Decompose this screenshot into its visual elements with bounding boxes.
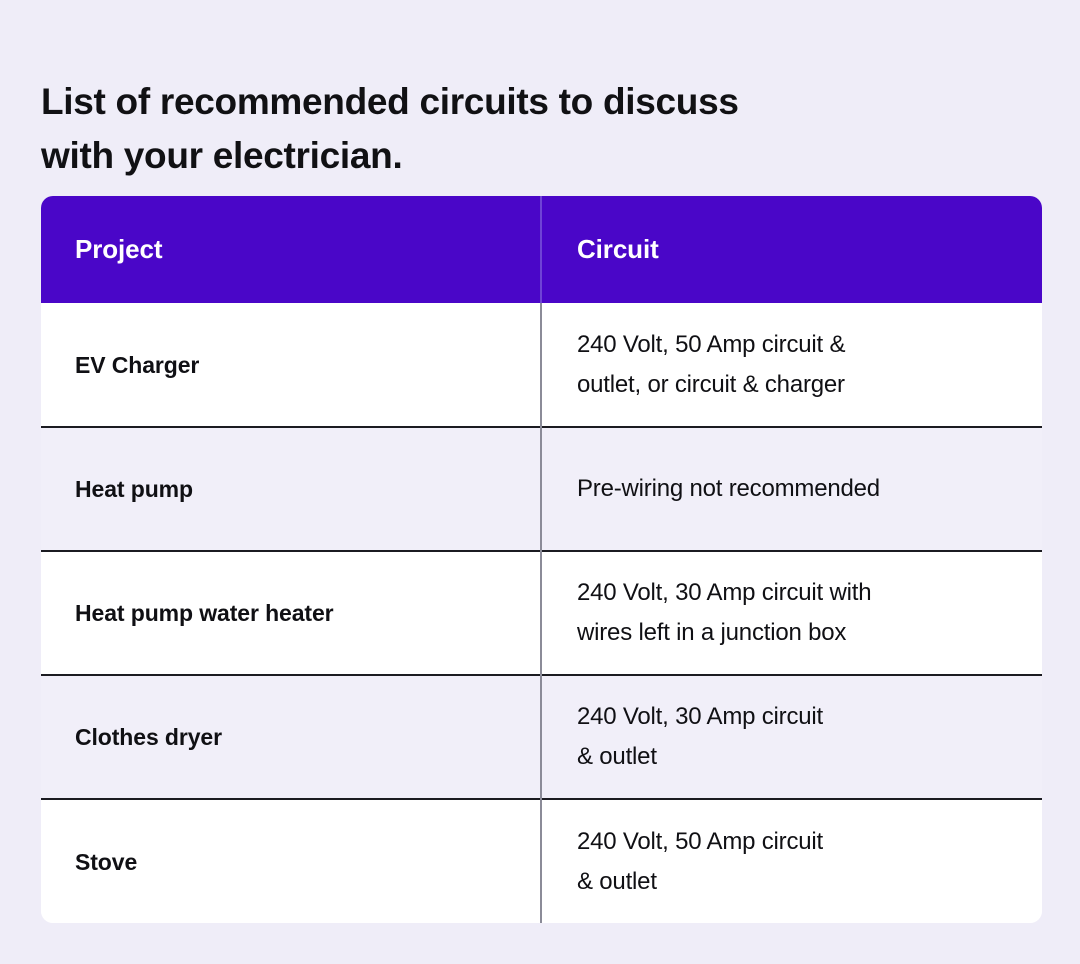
- table-body: EV Charger 240 Volt, 50 Amp circuit & ou…: [41, 303, 1042, 923]
- cell-project: EV Charger: [41, 303, 541, 427]
- cell-project: Clothes dryer: [41, 675, 541, 799]
- table-header: Project Circuit: [41, 196, 1042, 303]
- cell-project: Heat pump: [41, 427, 541, 551]
- cell-circuit: 240 Volt, 30 Amp circuit & outlet: [541, 675, 1042, 799]
- table: Project Circuit EV Charger 240 Volt, 50 …: [41, 196, 1042, 923]
- table-row: Heat pump Pre-wiring not recommended: [41, 427, 1042, 551]
- table-row: EV Charger 240 Volt, 50 Amp circuit & ou…: [41, 303, 1042, 427]
- column-header-project: Project: [41, 196, 541, 303]
- cell-circuit: Pre-wiring not recommended: [541, 427, 1042, 551]
- cell-circuit: 240 Volt, 50 Amp circuit & outlet, or ci…: [541, 303, 1042, 427]
- recommended-circuits-table: Project Circuit EV Charger 240 Volt, 50 …: [41, 196, 1042, 923]
- table-row: Heat pump water heater 240 Volt, 30 Amp …: [41, 551, 1042, 675]
- cell-project: Heat pump water heater: [41, 551, 541, 675]
- column-header-circuit: Circuit: [541, 196, 1042, 303]
- page-title: List of recommended circuits to discuss …: [41, 75, 941, 183]
- table-row: Stove 240 Volt, 50 Amp circuit & outlet: [41, 799, 1042, 923]
- table-header-row: Project Circuit: [41, 196, 1042, 303]
- cell-circuit: 240 Volt, 50 Amp circuit & outlet: [541, 799, 1042, 923]
- page-root: List of recommended circuits to discuss …: [0, 0, 1080, 964]
- cell-circuit: 240 Volt, 30 Amp circuit with wires left…: [541, 551, 1042, 675]
- cell-project: Stove: [41, 799, 541, 923]
- table-row: Clothes dryer 240 Volt, 30 Amp circuit &…: [41, 675, 1042, 799]
